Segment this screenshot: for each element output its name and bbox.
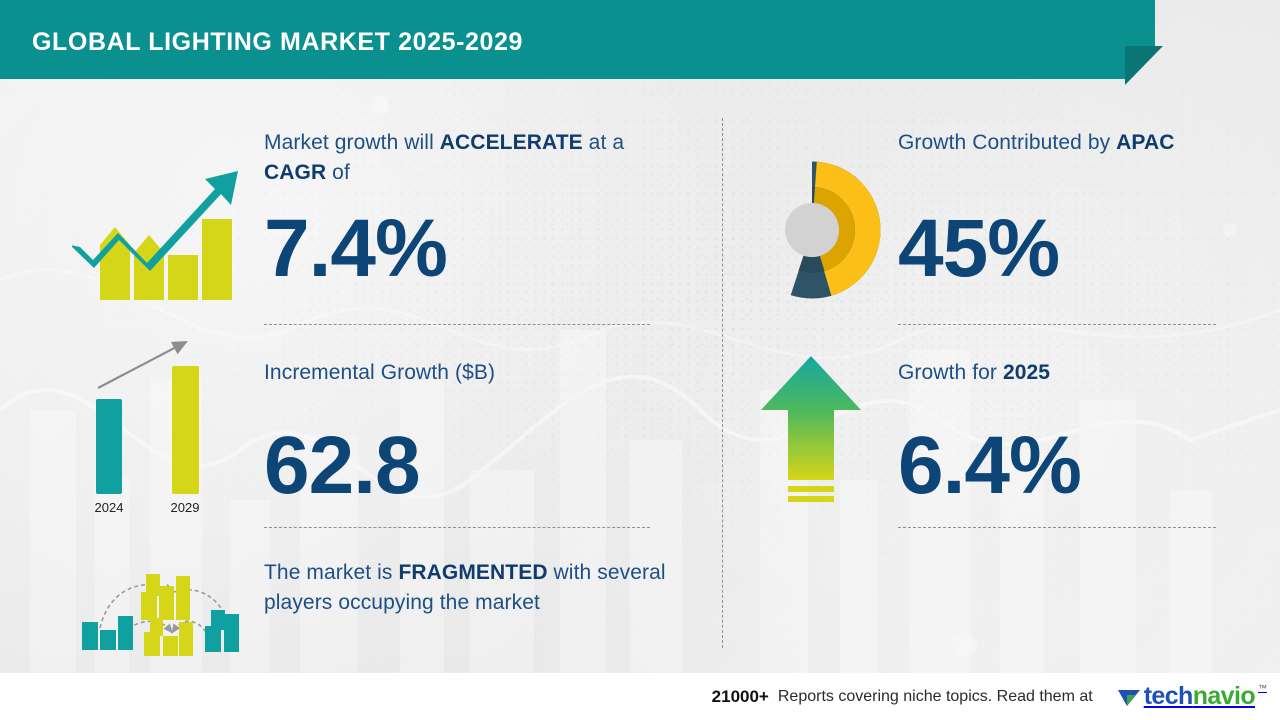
apac-caption-text: Growth Contributed by — [898, 131, 1116, 154]
growth-2025-value: 6.4% — [898, 425, 1081, 507]
logo-word-tech: tech — [1144, 682, 1193, 710]
right-divider-2 — [898, 527, 1216, 528]
cagr-caption-text-1: Market growth will — [264, 131, 440, 154]
fragmented-market-icon — [78, 560, 248, 665]
up-arrow-icon — [756, 352, 866, 512]
right-divider-1 — [898, 324, 1216, 325]
apac-caption-keyword: APAC — [1116, 131, 1174, 154]
bar-label-2024: 2024 — [95, 500, 124, 515]
technavio-wordmark: technavio — [1144, 682, 1255, 711]
column-divider — [722, 118, 723, 648]
cagr-caption-cagr: CAGR — [264, 161, 326, 184]
donut-chart-icon — [742, 160, 882, 305]
logo-word-navio: navio — [1193, 682, 1255, 710]
header-fold-corner — [1125, 46, 1163, 85]
growth-2025-caption: Growth for 2025 — [898, 358, 1218, 388]
cagr-caption: Market growth will ACCELERATE at a CAGR … — [264, 128, 664, 188]
apac-caption: Growth Contributed by APAC — [898, 128, 1218, 158]
cagr-caption-accelerate: ACCELERATE — [440, 131, 583, 154]
technavio-mark-icon — [1116, 684, 1142, 710]
fragmented-caption-text-1: The market is — [264, 561, 398, 584]
fragmented-caption-keyword: FRAGMENTED — [398, 561, 547, 584]
footer-bar: 21000+ Reports covering niche topics. Re… — [0, 673, 1280, 720]
apac-value: 45% — [898, 208, 1059, 290]
cagr-caption-text-2: at a — [583, 131, 624, 154]
bar-comparison-icon: 2024 2029 — [72, 330, 247, 525]
fragmented-market-caption: The market is FRAGMENTED with several pl… — [264, 558, 684, 618]
incremental-growth-value: 62.8 — [264, 425, 420, 507]
left-divider-1 — [264, 324, 650, 325]
bar-label-2029: 2029 — [171, 500, 200, 515]
logo-trademark: ™ — [1258, 683, 1267, 693]
page-title: GLOBAL LIGHTING MARKET 2025-2029 — [32, 28, 523, 57]
cagr-value: 7.4% — [264, 208, 447, 290]
growth-chart-icon — [72, 135, 242, 310]
growth-2025-caption-year: 2025 — [1003, 361, 1050, 384]
footer-tagline: Reports covering niche topics. Read them… — [778, 688, 1093, 706]
technavio-logo[interactable]: technavio ™ — [1116, 682, 1266, 711]
footer-content: 21000+ Reports covering niche topics. Re… — [712, 682, 1280, 711]
cagr-caption-text-3: of — [326, 161, 350, 184]
infographic-canvas: GLOBAL LIGHTING MARKET 2025-2029 Market … — [0, 0, 1280, 720]
incremental-growth-caption: Incremental Growth ($B) — [264, 358, 664, 388]
growth-2025-caption-text: Growth for — [898, 361, 1003, 384]
report-count: 21000+ — [712, 687, 769, 707]
left-divider-2 — [264, 527, 650, 528]
